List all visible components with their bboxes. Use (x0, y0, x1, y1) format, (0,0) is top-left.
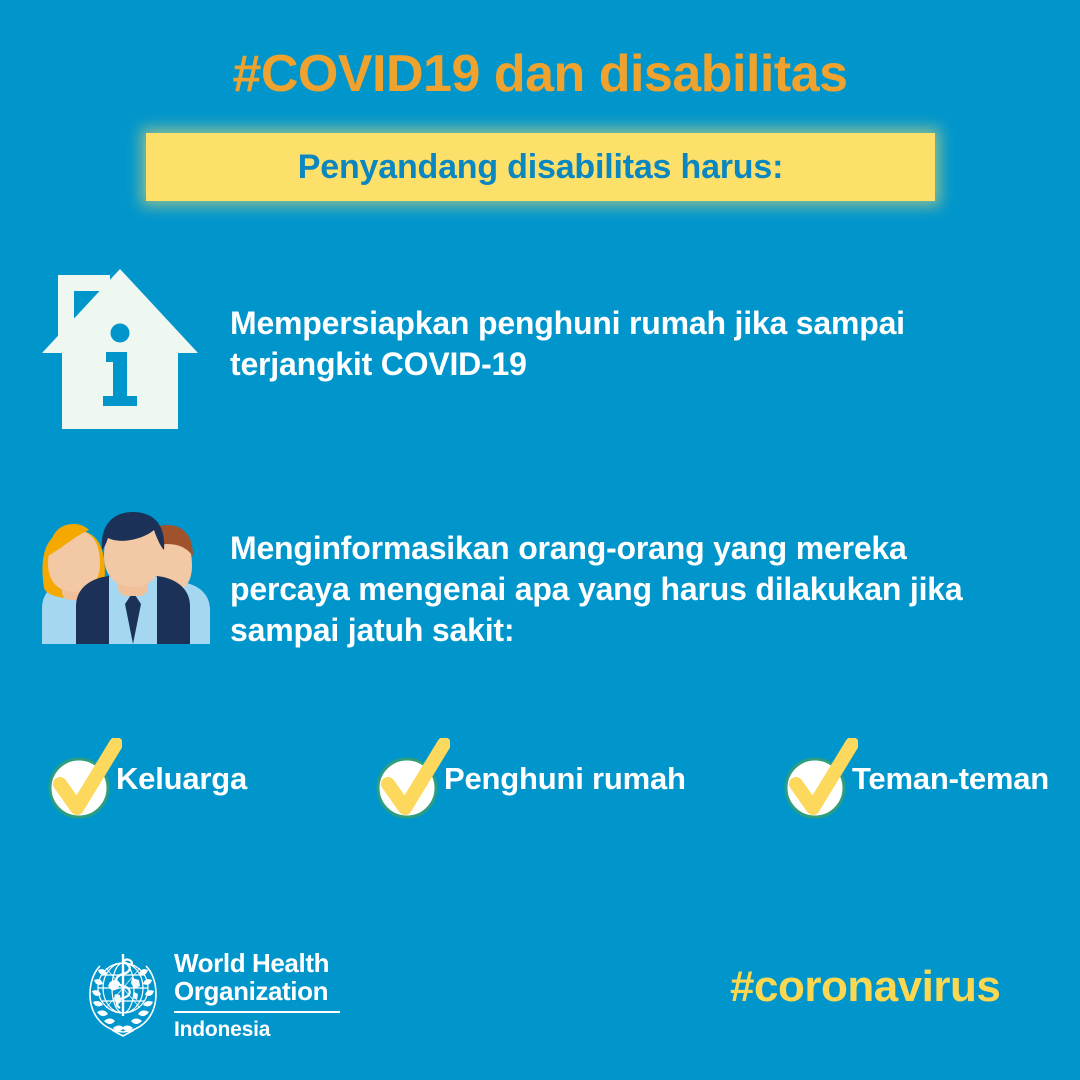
check-circle-icon (46, 738, 122, 820)
people-group-icon (14, 512, 224, 653)
check-item-penghuni-rumah: Penghuni rumah (374, 726, 686, 831)
check-label: Teman-teman (852, 761, 1049, 797)
check-circle-icon (374, 738, 450, 820)
who-logo: World Health Organization Indonesia (82, 944, 342, 1054)
advice-text-people: Menginformasikan orang-orang yang mereka… (230, 528, 990, 651)
who-un-emblem-icon (82, 944, 164, 1045)
house-info-icon (40, 261, 200, 441)
advice-row-people: Menginformasikan orang-orang yang mereka… (0, 500, 1080, 670)
who-wordmark: World Health Organization Indonesia (174, 949, 344, 1042)
hashtag-coronavirus: #coronavirus (730, 962, 1000, 1012)
check-item-teman-teman: Teman-teman (782, 726, 1049, 831)
banner: Penyandang disabilitas harus: (146, 133, 935, 201)
advice-text-house: Mempersiapkan penghuni rumah jika sampai… (230, 303, 970, 385)
who-country-label: Indonesia (174, 1018, 344, 1042)
who-divider (174, 1011, 340, 1013)
check-item-keluarga: Keluarga (46, 726, 247, 831)
who-line-2: Organization (174, 977, 344, 1005)
check-label: Keluarga (116, 761, 247, 797)
infographic-poster: #COVID19 dan disabilitas Penyandang disa… (0, 0, 1080, 1080)
who-line-1: World Health (174, 949, 344, 977)
check-circle-icon (782, 738, 858, 820)
check-label: Penghuni rumah (444, 761, 686, 797)
page-title: #COVID19 dan disabilitas (0, 44, 1080, 104)
banner-text: Penyandang disabilitas harus: (298, 148, 783, 187)
advice-row-house: Mempersiapkan penghuni rumah jika sampai… (0, 255, 1080, 445)
check-list: Keluarga Penghuni rumah Teman-teman (0, 726, 1080, 836)
